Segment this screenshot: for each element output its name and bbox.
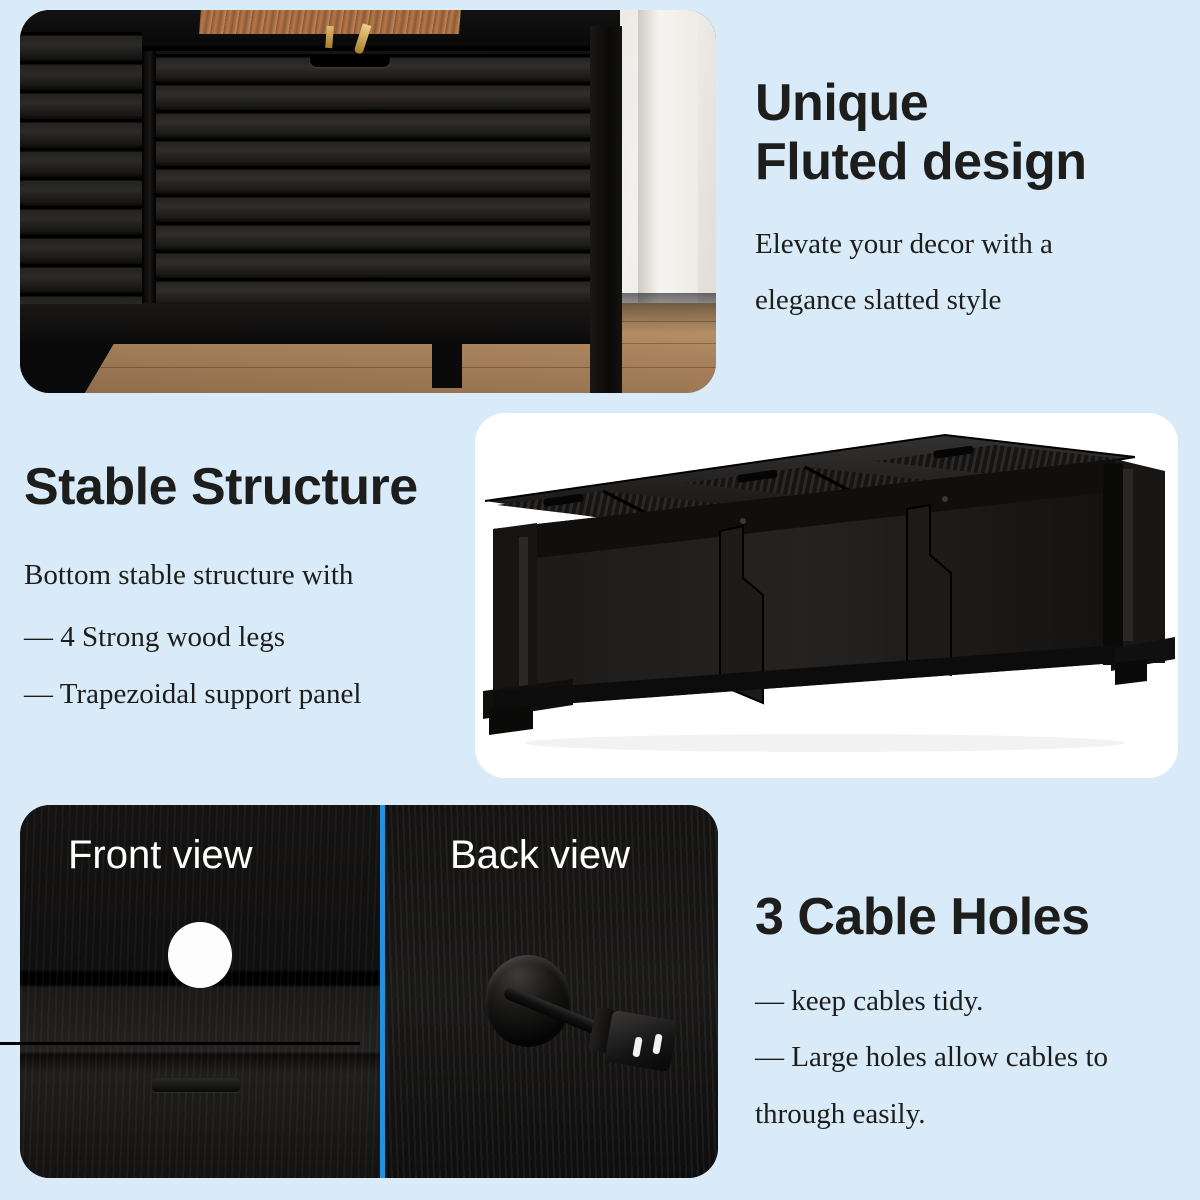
feature-unique-fluted-design: Unique Fluted design Elevate your decor … (755, 74, 1185, 329)
feature-stable-structure: Stable Structure Bottom stable structure… (24, 458, 464, 722)
feature-cable-holes: 3 Cable Holes — keep cables tidy. — Larg… (755, 888, 1185, 1142)
body-unique-fluted-design: Elevate your decor with a elegance slatt… (755, 216, 1185, 329)
infographic-canvas: Unique Fluted design Elevate your decor … (0, 0, 1200, 1200)
cable-hole-front-icon (168, 922, 232, 988)
headline-cable-holes: 3 Cable Holes (755, 888, 1185, 947)
wall-trim (638, 10, 698, 310)
front-view-label: Front view (68, 833, 253, 878)
fluted-side-panel (20, 32, 142, 304)
stand-frame-photo-card (475, 413, 1178, 778)
view-divider (380, 805, 385, 1178)
cabinet-leg-right (432, 340, 462, 388)
bullets-stable-structure: — 4 Strong wood legs — Trapezoidal suppo… (24, 609, 464, 722)
list-item: through easily. (755, 1086, 1185, 1143)
cabinet-right-post (590, 26, 622, 393)
fluted-cabinet-photo (20, 10, 716, 393)
body-stable-structure: Bottom stable structure with (24, 547, 464, 604)
cabinet-door-divider (142, 51, 156, 303)
list-item: — Large holes allow cables to (755, 1029, 1185, 1086)
headline-unique-fluted-design: Unique Fluted design (755, 74, 1185, 192)
bullets-cable-holes: — keep cables tidy. — Large holes allow … (755, 973, 1185, 1143)
cabinet-apron (20, 304, 620, 344)
drawer-seam (0, 1042, 360, 1045)
list-item: — keep cables tidy. (755, 973, 1185, 1030)
headline-stable-structure: Stable Structure (24, 458, 464, 517)
stand-frame-illustration (475, 413, 1178, 778)
back-view-label: Back view (450, 833, 630, 878)
cabinet-body (20, 10, 620, 340)
list-item: — 4 Strong wood legs (24, 609, 464, 666)
drawer-handle-front-icon (152, 1078, 240, 1092)
list-item: — Trapezoidal support panel (24, 666, 464, 723)
drawer-handle-icon (310, 54, 390, 67)
